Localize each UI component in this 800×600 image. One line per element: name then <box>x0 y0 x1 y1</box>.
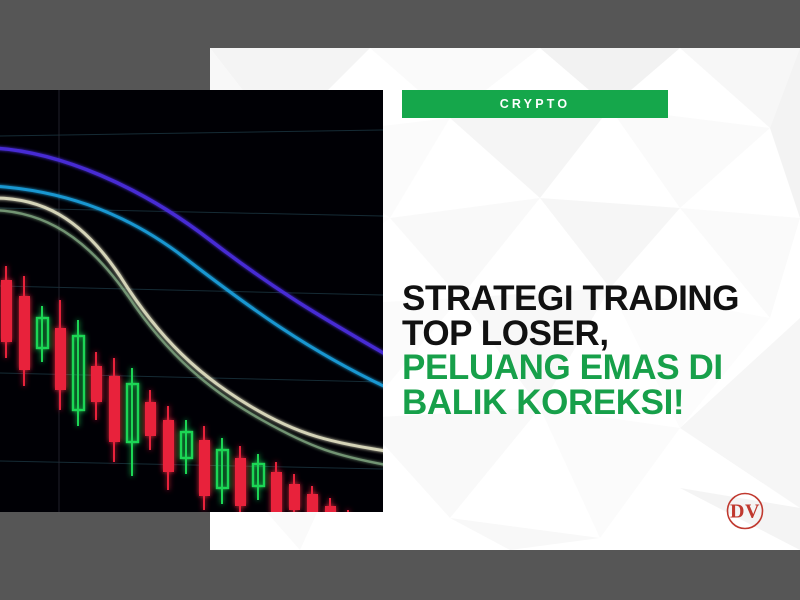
headline-line-4: BALIK KOREKSI! <box>402 386 782 421</box>
page-title: STRATEGI TRADING TOP LOSER, PELUANG EMAS… <box>402 282 782 421</box>
headline-line-1: STRATEGI TRADING <box>402 282 782 317</box>
poster-canvas: CRYPTO STRATEGI TRADING TOP LOSER, PELUA… <box>0 0 800 600</box>
headline-line-2: TOP LOSER, <box>402 317 782 352</box>
candlestick-chart-image <box>0 90 383 512</box>
svg-text:DV: DV <box>730 501 760 523</box>
category-badge[interactable]: CRYPTO <box>402 90 668 118</box>
category-badge-label: CRYPTO <box>500 97 571 111</box>
dv-logo-icon[interactable]: DV <box>722 488 768 534</box>
headline-line-3: PELUANG EMAS DI <box>402 351 782 386</box>
